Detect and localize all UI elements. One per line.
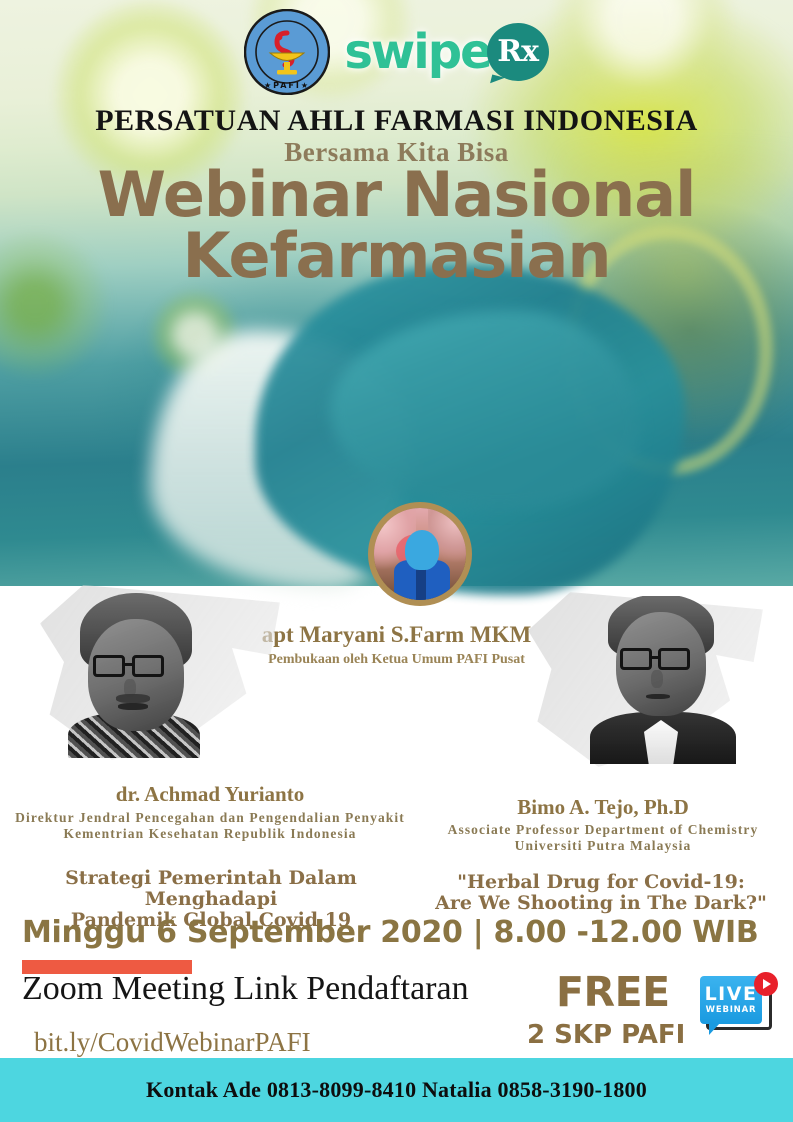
swipe-wordmark: swipe (344, 28, 490, 76)
page-title: Webinar Nasional Kefarmasian (0, 165, 793, 287)
contact-bar: Kontak Ade 0813-8099-8410 Natalia 0858-3… (0, 1058, 793, 1122)
center-speaker-avatar (368, 502, 472, 606)
right-speaker-role: Associate Professor Department of Chemis… (413, 822, 793, 854)
registration-label: Zoom Meeting Link Pendaftaran (22, 970, 469, 1008)
left-speaker-name: dr. Achmad Yurianto (0, 782, 420, 807)
rx-speech-bubble-icon: Rx (487, 23, 549, 81)
registration-link[interactable]: bit.ly/CovidWebinarPAFI (34, 1027, 311, 1058)
badge-body: LIVE WEBINAR (700, 976, 762, 1024)
rx-label: Rx (497, 37, 538, 67)
event-date-time: Minggu 6 September 2020 | 8.00 -12.00 WI… (22, 915, 758, 950)
right-speaker-name: Bimo A. Tejo, Ph.D (413, 795, 793, 820)
left-speaker-headshot (62, 593, 212, 758)
contact-text: Kontak Ade 0813-8099-8410 Natalia 0858-3… (146, 1077, 647, 1103)
svg-text:★PAFI★: ★PAFI★ (264, 81, 310, 90)
right-speaker-headshot (588, 596, 738, 764)
logo-row: ★PAFI★ swipe Rx (0, 6, 793, 98)
right-topic-line-2: Are We Shooting in The Dark?" (435, 892, 767, 914)
badge-live-label: LIVE (705, 985, 758, 1004)
swiperx-logo: swipe Rx (344, 23, 548, 81)
credits-label: 2 SKP PAFI (527, 1020, 685, 1050)
left-speaker-photo (40, 585, 280, 760)
price-label: FREE (556, 968, 670, 1016)
webinar-poster: ★PAFI★ swipe Rx PERSATUAN AHLI FARMASI I… (0, 0, 793, 1122)
pafi-logo-icon: ★PAFI★ (244, 9, 330, 95)
right-speaker-topic: "Herbal Drug for Covid-19: Are We Shooti… (411, 872, 791, 914)
play-button-icon (754, 972, 778, 996)
badge-webinar-label: WEBINAR (706, 1006, 757, 1015)
left-topic-line-1: Strategi Pemerintah Dalam Menghadapi (65, 867, 357, 910)
organization-name: PERSATUAN AHLI FARMASI INDONESIA (0, 104, 793, 138)
live-webinar-badge: LIVE WEBINAR (700, 976, 776, 1038)
right-topic-line-1: "Herbal Drug for Covid-19: (457, 871, 745, 893)
right-speaker-photo (528, 592, 763, 767)
main-title-line-2: Kefarmasian (0, 226, 793, 287)
left-speaker-role: Direktur Jendral Pencegahan dan Pengenda… (0, 810, 420, 842)
